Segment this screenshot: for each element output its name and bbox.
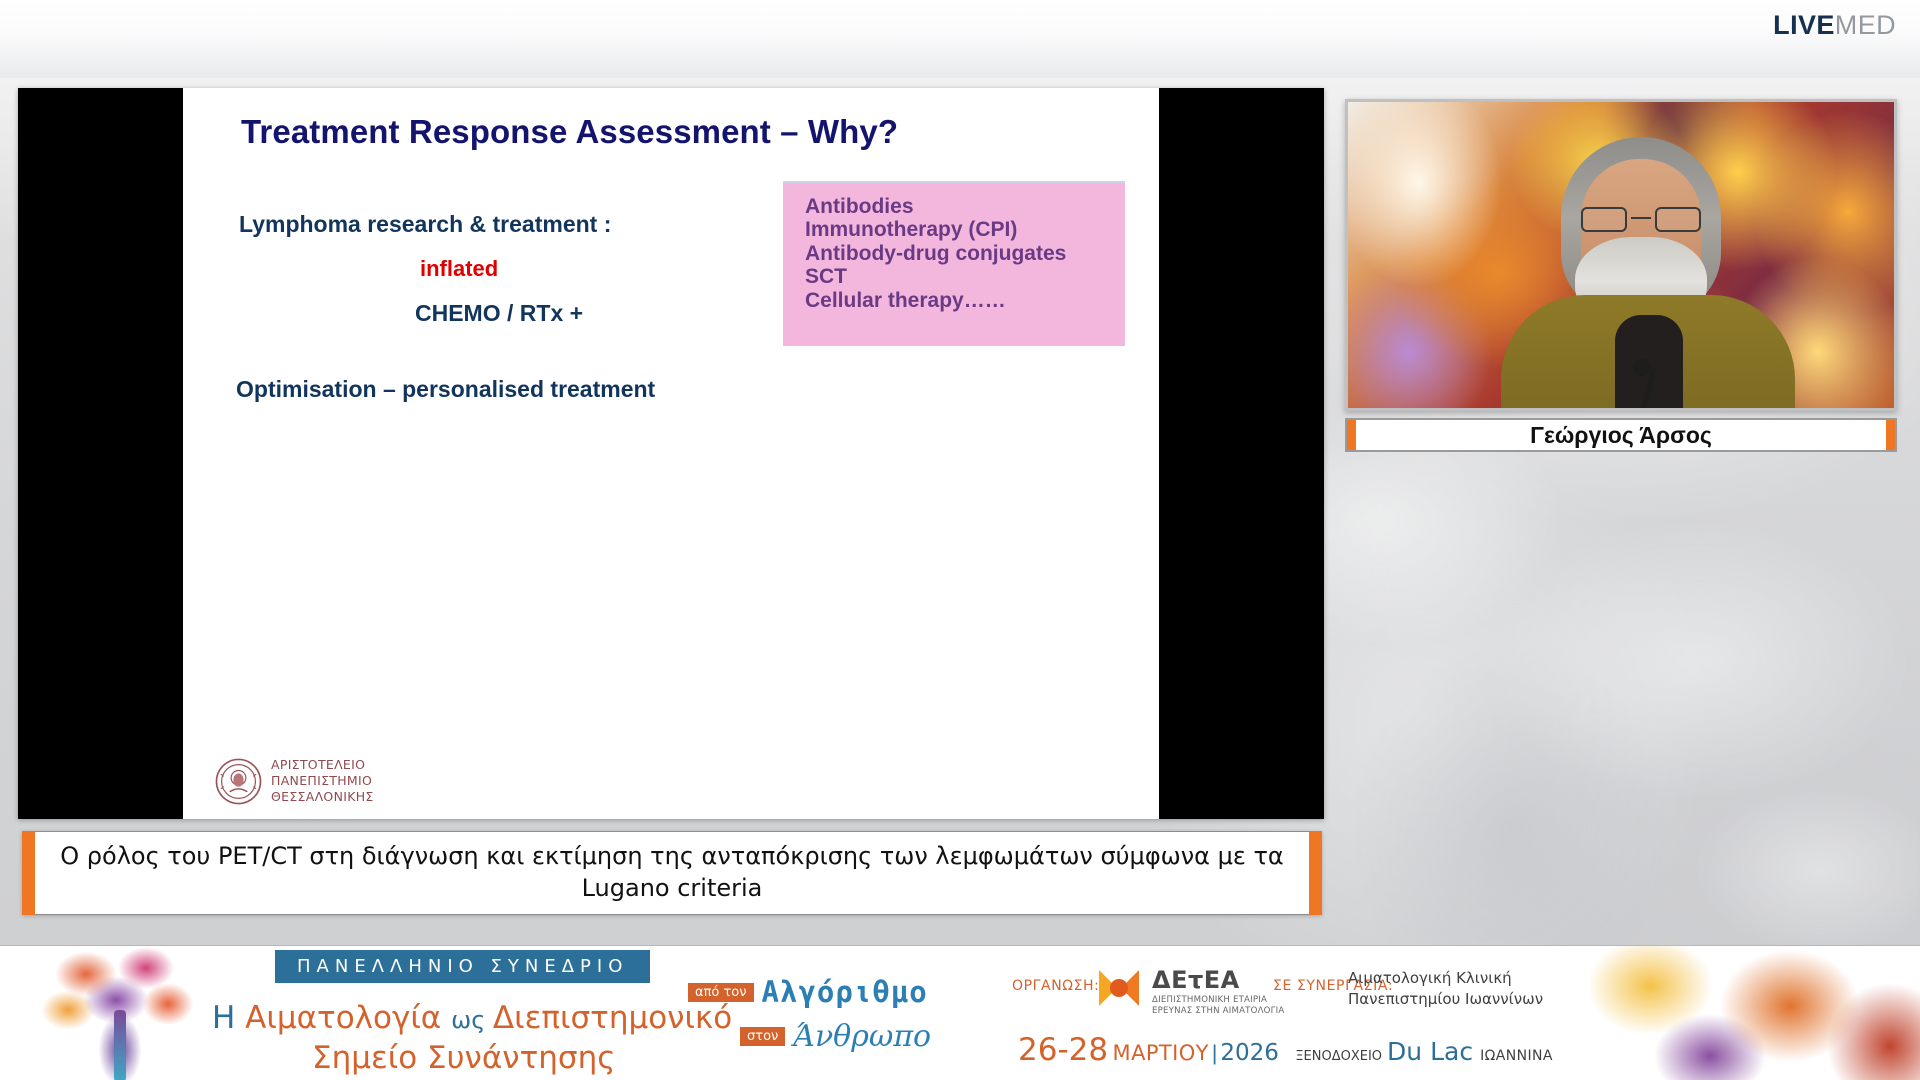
banner-right-artwork bbox=[1590, 946, 1920, 1080]
organiser-label: ΟΡΓΑΝΩΣΗ: bbox=[1012, 978, 1100, 994]
glasses-lens-right bbox=[1655, 207, 1701, 232]
event-date-days: 26-28 bbox=[1018, 1032, 1108, 1068]
livemed-logo-med: MED bbox=[1835, 10, 1896, 40]
cooperation-name-line1: Αιματολογική Κλινική bbox=[1348, 968, 1543, 989]
highlight-item-antibodies: Antibodies bbox=[805, 195, 1125, 218]
slide-text-inflated: inflated bbox=[420, 256, 498, 282]
university-name-line3: ΘΕΣΣΑΛΟΝΙΚΗΣ bbox=[271, 789, 374, 805]
glasses-bridge bbox=[1631, 217, 1651, 219]
organiser-subtitle: ΔΙΕΠΙΣΤΗΜΟΝΙΚΗ ΕΤΑΙΡΙΑ ΕΡΕΥΝΑΣ ΣΤΗΝ ΑΙΜΑ… bbox=[1152, 995, 1284, 1017]
highlight-item-antibody-drug-conjugates: Antibody-drug conjugates bbox=[805, 242, 1125, 265]
cooperation-name-line2: Πανεπιστημίου Ιωαννίνων bbox=[1348, 989, 1543, 1010]
algo-word-algorithm: Αλγόριθμο bbox=[762, 975, 928, 1009]
algo-chip-apo-ton: από τον bbox=[688, 983, 754, 1002]
event-city: ΙΩΑΝΝΙΝΑ bbox=[1480, 1048, 1553, 1064]
speaker-name-label: Γεώργιος Άρσος bbox=[1530, 422, 1712, 449]
congress-tree-artwork bbox=[28, 945, 218, 1080]
header-background bbox=[0, 0, 1920, 78]
event-date-year: 2026 bbox=[1220, 1040, 1279, 1066]
slide-viewer[interactable]: Treatment Response Assessment – Why? Lym… bbox=[18, 88, 1324, 819]
hotel-label: ΞΕΝΟΔΟΧΕΙΟ bbox=[1295, 1049, 1382, 1064]
organiser-subtitle-line1: ΔΙΕΠΙΣΤΗΜΟΝΙΚΗ ΕΤΑΙΡΙΑ bbox=[1152, 995, 1284, 1006]
algorithm-tagline-row1: από τονΑλγόριθμο bbox=[688, 975, 928, 1009]
speaker-name-plate: Γεώργιος Άρσος bbox=[1345, 418, 1897, 452]
presentation-title-bar: Ο ρόλος του PET/CT στη διάγνωση και εκτί… bbox=[22, 831, 1322, 915]
congress-title-l1-c: ως bbox=[451, 1006, 493, 1034]
slide-text-optimisation: Optimisation – personalised treatment bbox=[236, 376, 655, 403]
highlight-item-cellular-therapy: Cellular therapy…… bbox=[805, 289, 1125, 312]
slide-content: Treatment Response Assessment – Why? Lym… bbox=[183, 88, 1159, 819]
speaker-glasses-icon bbox=[1577, 207, 1705, 232]
slide-title: Treatment Response Assessment – Why? bbox=[241, 113, 1121, 151]
university-name-line1: ΑΡΙΣΤΟΤΕΛΕΙΟ bbox=[271, 757, 374, 773]
university-seal-icon bbox=[215, 758, 262, 805]
presentation-title-text: Ο ρόλος του PET/CT στη διάγνωση και εκτί… bbox=[47, 841, 1297, 904]
congress-tag: ΠΑΝΕΛΛΗΝΙΟ ΣΥΝΕΔΡΙΟ bbox=[275, 950, 650, 983]
event-date-month: ΜΑΡΤΙΟΥ bbox=[1113, 1041, 1209, 1065]
event-date-separator: | bbox=[1212, 1042, 1217, 1065]
organiser-subtitle-line2: ΕΡΕΥΝΑΣ ΣΤΗΝ ΑΙΜΑΤΟΛΟΓΙΑ bbox=[1152, 1006, 1284, 1017]
speaker-figure bbox=[1523, 137, 1773, 411]
algorithm-tagline-row2: στονΆνθρωπο bbox=[740, 1019, 931, 1054]
congress-title-l1-b: Αιματολογία bbox=[245, 1000, 451, 1036]
cooperation-name: Αιματολογική Κλινική Πανεπιστημίου Ιωανν… bbox=[1348, 968, 1543, 1010]
congress-title-line1: Η Αιματολογία ως Διεπιστημονικό bbox=[212, 1000, 732, 1036]
university-name-line2: ΠΑΝΕΠΙΣΤΗΜΙΟ bbox=[271, 773, 374, 789]
slide-highlight-box: Antibodies Immunotherapy (CPI) Antibody-… bbox=[783, 181, 1125, 346]
event-date-row: 26-28 ΜΑΡΤΙΟΥ|2026 ΞΕΝΟΔΟΧΕΙΟDu LacΙΩΑΝΝ… bbox=[1018, 1032, 1553, 1068]
speaker-video-feed[interactable] bbox=[1345, 99, 1897, 411]
detea-logo-icon bbox=[1095, 966, 1143, 1010]
organiser-name: ΔΕτΕΑ bbox=[1152, 966, 1240, 994]
highlight-item-immunotherapy: Immunotherapy (CPI) bbox=[805, 218, 1125, 241]
algo-word-human: Άνθρωπο bbox=[793, 1019, 931, 1054]
highlight-item-sct: SCT bbox=[805, 265, 1125, 288]
slide-text-lymphoma: Lymphoma research & treatment : bbox=[239, 211, 611, 238]
hotel-name: Du Lac bbox=[1387, 1037, 1473, 1066]
university-logo: ΑΡΙΣΤΟΤΕΛΕΙΟ ΠΑΝΕΠΙΣΤΗΜΙΟ ΘΕΣΣΑΛΟΝΙΚΗΣ bbox=[215, 757, 374, 805]
glasses-lens-left bbox=[1581, 207, 1627, 232]
microphone-icon bbox=[1633, 359, 1650, 376]
congress-title-line2: Σημείο Συνάντησης bbox=[312, 1040, 615, 1076]
livemed-logo: LIVEMED bbox=[1773, 12, 1896, 39]
livemed-logo-live: LIVE bbox=[1773, 10, 1835, 40]
slide-text-chemo: CHEMO / RTx + bbox=[415, 300, 583, 327]
congress-title-l1-a: Η bbox=[212, 1000, 245, 1036]
algo-chip-ston: στον bbox=[740, 1027, 785, 1046]
university-name: ΑΡΙΣΤΟΤΕΛΕΙΟ ΠΑΝΕΠΙΣΤΗΜΙΟ ΘΕΣΣΑΛΟΝΙΚΗΣ bbox=[271, 757, 374, 805]
